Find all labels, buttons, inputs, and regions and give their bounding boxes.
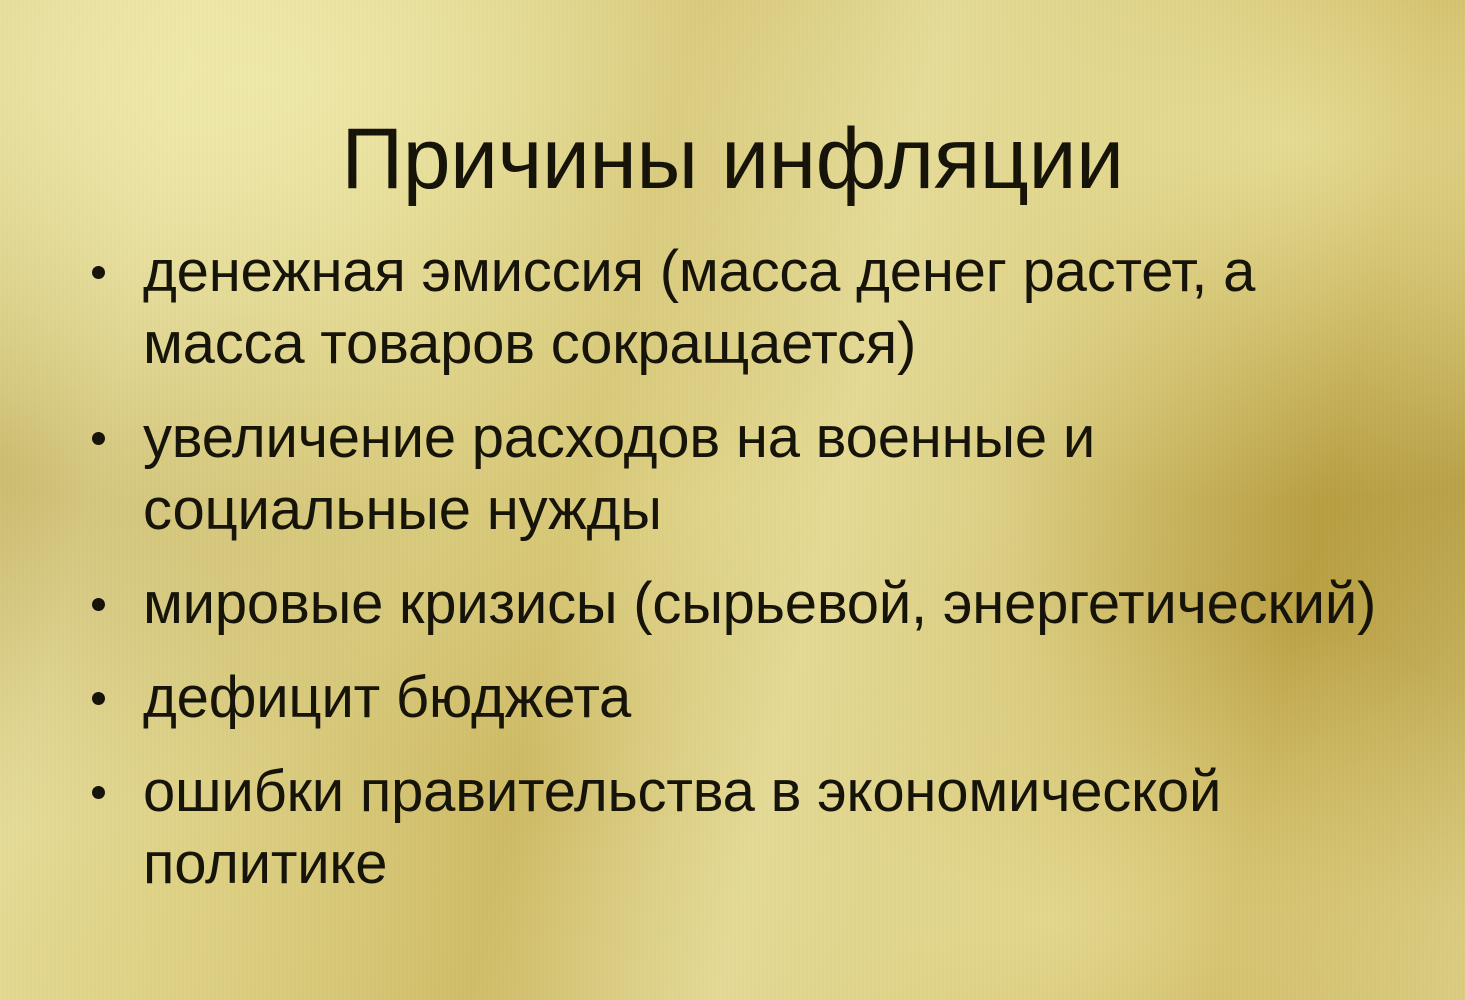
list-item: увеличение расходов на военные и социаль… bbox=[72, 402, 1392, 546]
list-item-label: ошибки правительства в экономической пол… bbox=[143, 756, 1392, 900]
bullet-list: денежная эмиссия (масса денег растет, а … bbox=[72, 236, 1392, 900]
presentation-slide: Причины инфляции денежная эмиссия (масса… bbox=[0, 0, 1465, 1000]
list-item: дефицит бюджета bbox=[72, 662, 1392, 734]
bullet-dot-icon bbox=[92, 598, 105, 611]
bullet-dot-icon bbox=[92, 266, 105, 279]
list-item: ошибки правительства в экономической пол… bbox=[72, 756, 1392, 900]
list-item: мировые кризисы (сырьевой, энергетически… bbox=[72, 568, 1392, 640]
list-item-label: денежная эмиссия (масса денег растет, а … bbox=[143, 236, 1392, 380]
list-item-label: увеличение расходов на военные и социаль… bbox=[143, 402, 1392, 546]
bullet-dot-icon bbox=[92, 786, 105, 799]
page-title: Причины инфляции bbox=[0, 116, 1465, 204]
bullet-dot-icon bbox=[92, 432, 105, 445]
bullet-dot-icon bbox=[92, 692, 105, 705]
list-item-label: мировые кризисы (сырьевой, энергетически… bbox=[143, 568, 1392, 640]
list-item-label: дефицит бюджета bbox=[143, 662, 1392, 734]
list-item: денежная эмиссия (масса денег растет, а … bbox=[72, 236, 1392, 380]
